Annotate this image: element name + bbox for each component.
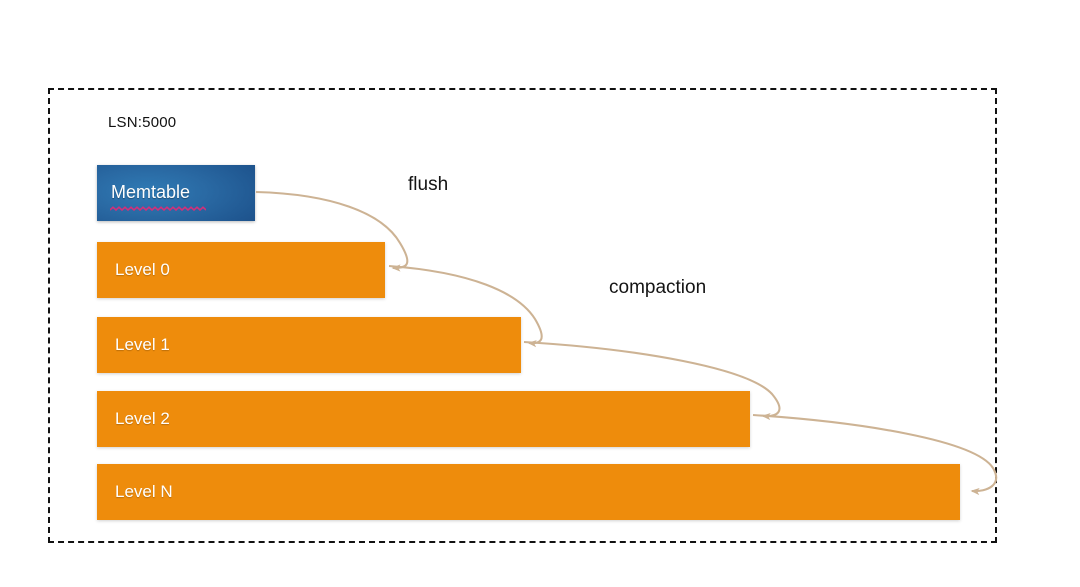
- compaction-annotation: compaction: [609, 277, 706, 299]
- flush-annotation: flush: [408, 174, 448, 196]
- memtable-label: Memtable: [111, 182, 190, 203]
- level-bar-0[interactable]: Level 0: [97, 242, 385, 298]
- level-bar-n[interactable]: Level N: [97, 464, 960, 520]
- level-bar-n-label: Level N: [115, 482, 173, 502]
- lsn-label: LSN:5000: [108, 114, 176, 131]
- level-bar-2[interactable]: Level 2: [97, 391, 750, 447]
- diagram-canvas: LSN:5000 Memtable Level 0 Level 1 Level …: [0, 0, 1080, 587]
- level-bar-1[interactable]: Level 1: [97, 317, 521, 373]
- level-bar-0-label: Level 0: [115, 260, 170, 280]
- memtable-box[interactable]: Memtable: [97, 165, 255, 221]
- level-bar-2-label: Level 2: [115, 409, 170, 429]
- level-bar-1-label: Level 1: [115, 335, 170, 355]
- spellcheck-squiggle-icon: [110, 206, 206, 212]
